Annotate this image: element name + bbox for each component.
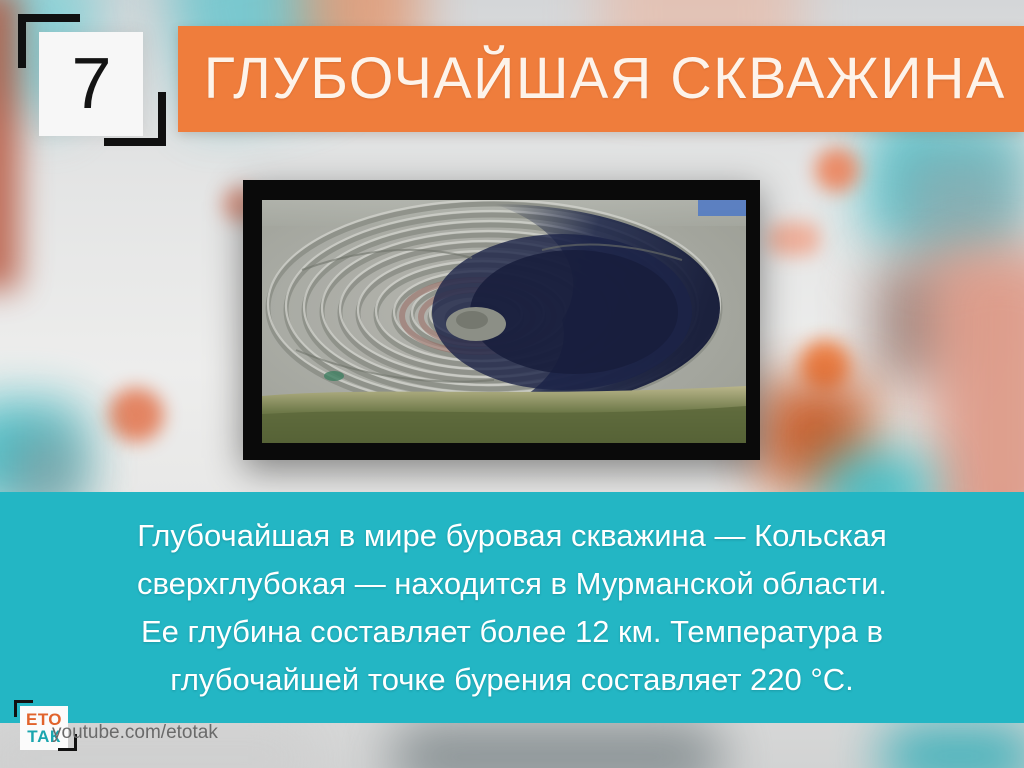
caption-line: Глубочайшая в мире буровая скважина — Ко… <box>137 512 886 560</box>
bg-dot-salmon-right-mid <box>768 222 820 256</box>
bg-shape-red-left-edge <box>0 0 20 290</box>
slide-number-badge: 7 <box>18 14 166 146</box>
caption-text-block: Глубочайшая в мире буровая скважина — Ко… <box>0 492 1024 723</box>
logo-bracket-top-left-icon <box>14 700 33 717</box>
page-title: ГЛУБОЧАЙШАЯ СКВАЖИНА <box>178 50 1006 108</box>
photo-frame <box>243 180 760 460</box>
watermark-url[interactable]: youtube.com/etotak <box>52 722 218 744</box>
bg-shape-teal-bottom-right <box>884 726 1024 768</box>
photo-image <box>262 200 746 443</box>
caption-line: глубочайшей точке бурения составляет 220… <box>170 656 854 704</box>
bg-shape-gray-bottom-center <box>392 722 722 768</box>
bg-dot-orange-left-mid <box>108 388 164 442</box>
caption-line: Ее глубина составляет более 12 км. Темпе… <box>141 608 883 656</box>
caption-line: сверхглубокая — находится в Мурманской о… <box>137 560 887 608</box>
open-pit-mine-illustration <box>262 200 746 443</box>
slide-root: 7 ГЛУБОЧАЙШАЯ СКВАЖИНА <box>0 0 1024 768</box>
title-band: ГЛУБОЧАЙШАЯ СКВАЖИНА <box>178 26 1024 132</box>
bracket-bottom-right-icon <box>104 92 166 146</box>
caption-band: Глубочайшая в мире буровая скважина — Ко… <box>0 492 1024 723</box>
bg-dot-orange-right-top <box>815 148 859 192</box>
bg-shape-gray-right-upper <box>900 150 1020 260</box>
bracket-top-left-icon <box>18 14 80 68</box>
